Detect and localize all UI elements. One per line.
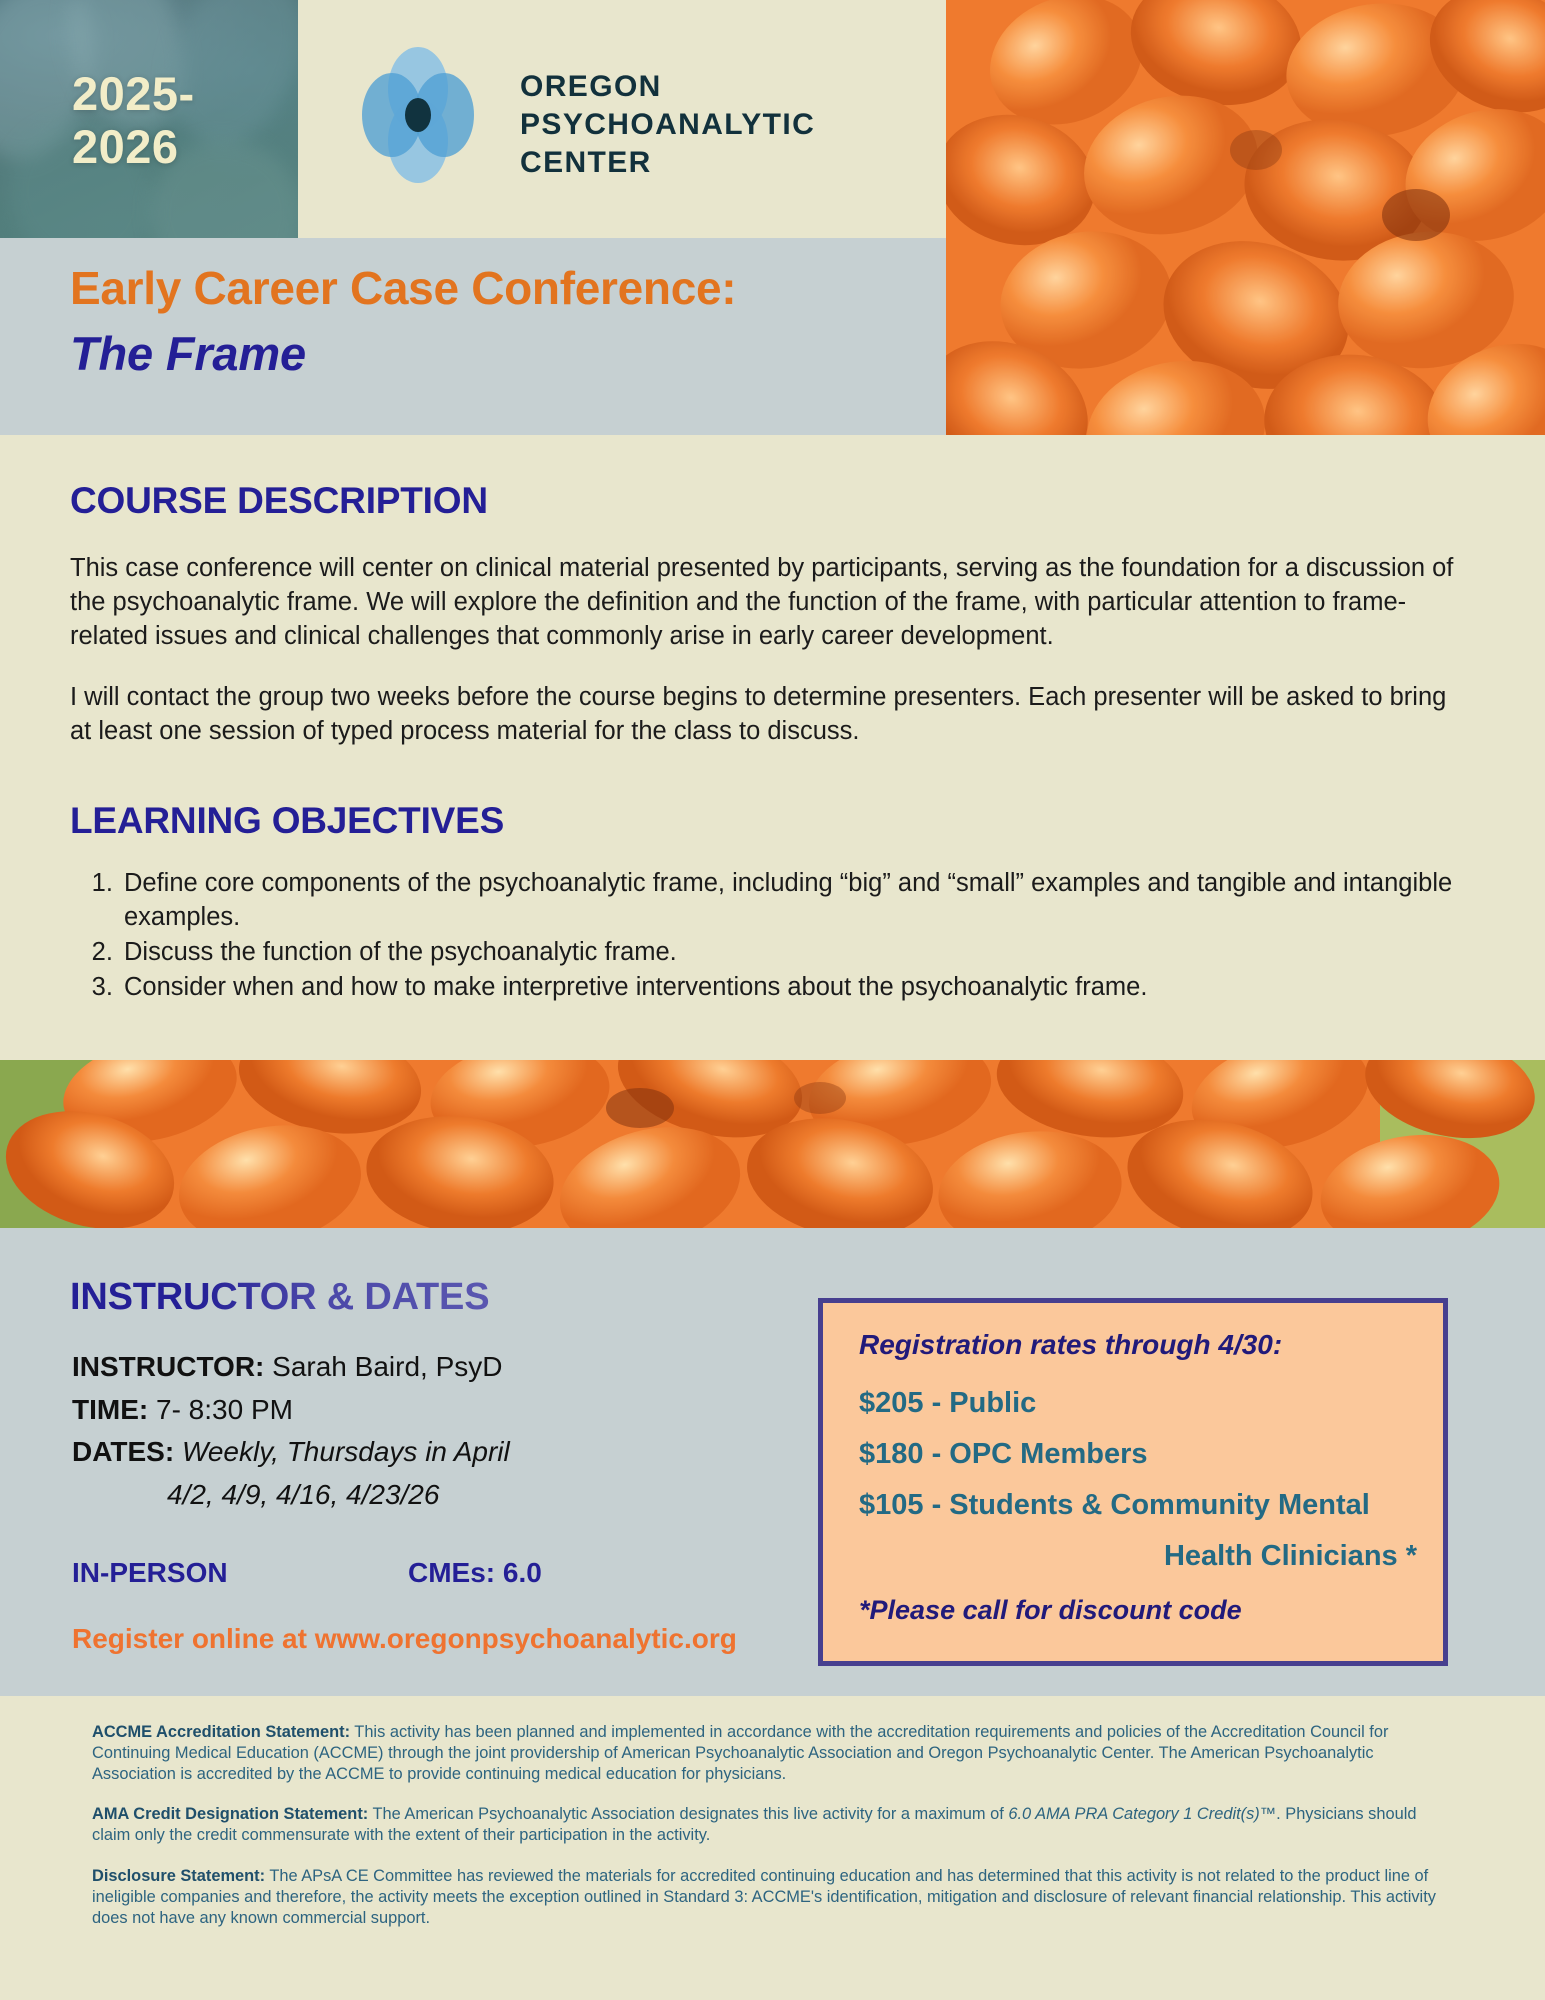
academic-year: 2025-2026	[72, 68, 195, 173]
rate-opc-members: $180 - OPC Members	[859, 1438, 1148, 1471]
rate-public: $205 - Public	[859, 1387, 1036, 1420]
dates-row: DATES: Weekly, Thursdays in April 4/2, 4…	[72, 1431, 510, 1516]
rate-students: $105 - Students & Community Mental	[859, 1489, 1370, 1522]
list-item: Define core components of the psychoanal…	[120, 867, 1540, 935]
accme-label: ACCME Accreditation Statement:	[92, 1723, 350, 1741]
learning-objectives-heading: LEARNING OBJECTIVES	[70, 800, 504, 842]
accme-statement: ACCME Accreditation Statement: This acti…	[92, 1722, 1437, 1784]
course-description-paragraph-1: This case conference will center on clin…	[70, 551, 1470, 653]
ama-statement: AMA Credit Designation Statement: The Am…	[92, 1804, 1437, 1846]
org-line-2: PSYCHOANALYTIC	[520, 108, 815, 141]
opc-flower-logo-icon	[348, 45, 488, 185]
main-content: COURSE DESCRIPTION This case conference …	[0, 435, 1545, 1060]
dates-label: DATES:	[72, 1436, 174, 1467]
list-item: Discuss the function of the psychoanalyt…	[120, 936, 1540, 970]
org-line-3: CENTER	[520, 146, 652, 179]
ama-credit-italic: 6.0 AMA PRA Category 1 Credit(s)™	[1008, 1805, 1276, 1823]
course-subtitle: The Frame	[70, 326, 306, 381]
dates-value-line2: 4/2, 4/9, 4/16, 4/23/26	[72, 1474, 510, 1517]
rate-students-line2: Health Clinicians *	[859, 1540, 1417, 1573]
disclosure-text: The APsA CE Committee has reviewed the m…	[92, 1867, 1436, 1927]
mid-dahlia-image	[0, 1060, 1545, 1228]
instructor-details: INSTRUCTOR: Sarah Baird, PsyD TIME: 7- 8…	[72, 1346, 510, 1516]
instructor-dates-heading: INSTRUCTOR & DATES	[70, 1276, 489, 1319]
discount-note: *Please call for discount code	[859, 1595, 1242, 1626]
instructor-label: INSTRUCTOR:	[72, 1351, 264, 1382]
dahlia-strip-graphic	[0, 1060, 1545, 1228]
ama-label: AMA Credit Designation Statement:	[92, 1805, 368, 1823]
organization-name: OREGON PSYCHOANALYTIC CENTER	[520, 68, 815, 181]
format-badge: IN-PERSON	[72, 1557, 228, 1589]
course-description-paragraph-2: I will contact the group two weeks befor…	[70, 680, 1470, 748]
year-line-1: 2025-	[72, 67, 195, 120]
time-label: TIME:	[72, 1394, 148, 1425]
course-description-heading: COURSE DESCRIPTION	[70, 480, 488, 522]
org-line-1: OREGON	[520, 70, 662, 103]
register-link[interactable]: Register online at www.oregonpsychoanaly…	[72, 1623, 737, 1655]
ama-text-a: The American Psychoanalytic Association …	[368, 1805, 1008, 1823]
title-band: Early Career Case Conference: The Frame	[0, 238, 946, 435]
list-item: Consider when and how to make interpreti…	[120, 971, 1540, 1005]
time-value: 7- 8:30 PM	[156, 1394, 293, 1425]
dates-value: Weekly, Thursdays in April	[182, 1436, 510, 1467]
hero-dahlia-image	[946, 0, 1545, 476]
cme-credits: CMEs: 6.0	[408, 1557, 542, 1589]
course-flyer: 2025-2026 OREGON PSYCHOANALYTIC CENTER	[0, 0, 1545, 2000]
accreditation-footer: ACCME Accreditation Statement: This acti…	[0, 1696, 1545, 2000]
instructor-value: Sarah Baird, PsyD	[272, 1351, 502, 1382]
disclosure-statement: Disclosure Statement: The APsA CE Commit…	[92, 1866, 1437, 1928]
learning-objectives-list: Define core components of the psychoanal…	[78, 867, 1540, 1006]
year-line-2: 2026	[72, 120, 179, 173]
registration-rates-box: Registration rates through 4/30: $205 - …	[818, 1298, 1448, 1666]
year-block: 2025-2026	[0, 0, 298, 238]
disclosure-label: Disclosure Statement:	[92, 1867, 265, 1885]
instructor-row: INSTRUCTOR: Sarah Baird, PsyD	[72, 1346, 510, 1389]
course-title: Early Career Case Conference:	[70, 261, 736, 315]
rates-title: Registration rates through 4/30:	[859, 1329, 1282, 1361]
dahlia-petals-graphic	[946, 0, 1545, 476]
time-row: TIME: 7- 8:30 PM	[72, 1389, 510, 1432]
